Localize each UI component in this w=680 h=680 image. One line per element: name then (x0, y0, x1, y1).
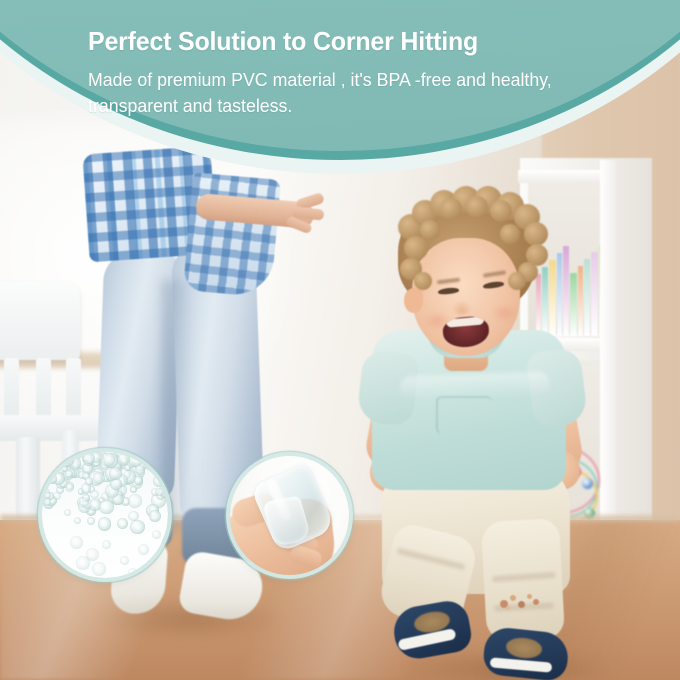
corner-guard-pellet (101, 453, 114, 466)
corner-guard-pellet (146, 560, 155, 569)
shirt-pocket (436, 396, 492, 434)
embroidery-dot (510, 595, 516, 601)
corner-guard-pellet (130, 520, 145, 535)
hair-curl (500, 224, 520, 244)
chair-back (0, 282, 80, 360)
header-text-block: Perfect Solution to Corner Hitting Made … (88, 26, 588, 120)
corner-guard-pellet (128, 494, 141, 507)
toddler-cheek (492, 304, 518, 322)
chair-slat (4, 358, 19, 422)
corner-guard-pellet (117, 518, 128, 529)
chair-seat (0, 415, 100, 441)
corner-guard-pellet (79, 497, 89, 507)
toy-bead (582, 478, 593, 489)
corner-guard-pellet (138, 544, 149, 555)
corner-guard-pellet (102, 540, 111, 549)
chair-slat (36, 358, 51, 422)
corner-guard-pellet (130, 486, 137, 493)
book (584, 259, 590, 336)
corner-guard-pellet (83, 453, 94, 464)
corner-guard-pellet (152, 530, 161, 539)
corner-guard-pellet (134, 476, 143, 485)
corner-guard-pellet (92, 562, 106, 576)
corner-guard-pellet (65, 483, 74, 492)
book (557, 253, 562, 336)
toddler-nose (452, 300, 472, 315)
toddler-ear (404, 288, 423, 313)
corner-guard-pellet (74, 517, 81, 524)
book (549, 260, 556, 336)
corner-guard-pellet (117, 453, 130, 466)
corner-guard-pellet (128, 568, 137, 577)
book (536, 274, 541, 336)
embroidery-dot (518, 601, 525, 608)
product-banner: Perfect Solution to Corner Hitting Made … (0, 0, 680, 680)
hair-curl (490, 200, 512, 222)
corner-guard-pellet (149, 510, 161, 522)
book (570, 273, 577, 336)
corner-guard-pellet (53, 492, 61, 500)
embroidery-dot (533, 599, 539, 605)
corner-guard-pellet (87, 517, 95, 525)
corner-guard-pellet (64, 509, 71, 516)
book (563, 246, 569, 336)
corner-guard-pellet (76, 556, 90, 570)
embroidery-dot (506, 606, 510, 610)
book (591, 252, 598, 336)
hair-curl (440, 198, 462, 220)
page-title: Perfect Solution to Corner Hitting (88, 26, 568, 57)
hair-curl (508, 272, 526, 290)
hair-curl (404, 236, 428, 260)
corner-guard-pellet (93, 472, 105, 484)
chair-slat (66, 358, 81, 422)
corner-guard-pellet (70, 536, 83, 549)
book (542, 267, 548, 336)
book (578, 266, 583, 336)
corner-guard-pellet (135, 465, 145, 475)
hair-curl (524, 222, 548, 246)
corner-guard-pellet (42, 453, 53, 464)
pants-embroidery (500, 592, 544, 614)
corner-guard-pellet (128, 511, 138, 521)
inset-hand-holding-corner-guard (230, 456, 349, 575)
hair-curl (466, 196, 488, 218)
corner-guard-pellet (98, 517, 111, 530)
corner-guard-pellet (99, 500, 114, 515)
inset-clear-corner-guards-pile (42, 452, 168, 578)
hair-curl (414, 272, 432, 290)
hair-curl (420, 220, 440, 240)
embroidery-dot (527, 594, 532, 599)
corner-guard-pellet (48, 474, 57, 483)
corner-guard-pellet (120, 556, 129, 565)
page-subtitle: Made of premium PVC material , it's BPA … (88, 67, 568, 121)
